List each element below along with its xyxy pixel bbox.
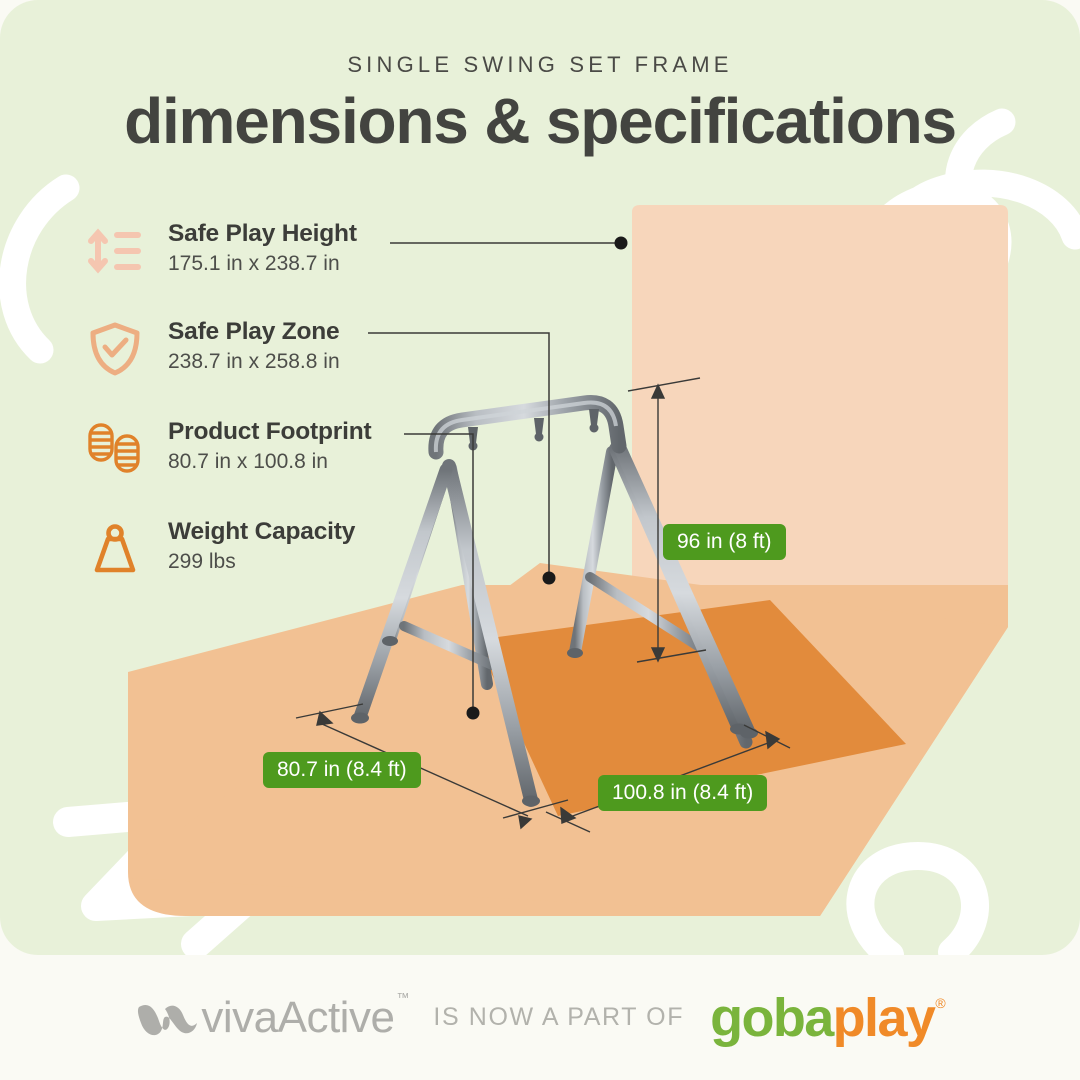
height-arrows-icon bbox=[86, 222, 144, 280]
footprints-icon bbox=[86, 420, 144, 478]
shield-check-icon bbox=[86, 320, 144, 378]
spec-title: Weight Capacity bbox=[168, 518, 355, 546]
spec-title: Safe Play Zone bbox=[168, 318, 340, 346]
main-panel: SINGLE SWING SET FRAME dimensions & spec… bbox=[0, 0, 1080, 955]
vivaactive-mark-icon bbox=[135, 993, 201, 1043]
height-badge: 96 in (8 ft) bbox=[663, 524, 786, 560]
connector-text: IS NOW A PART OF bbox=[433, 1003, 684, 1032]
gobaplay-logo: goba play ® bbox=[710, 987, 945, 1049]
eyebrow-text: SINGLE SWING SET FRAME bbox=[0, 52, 1080, 78]
trademark-symbol: ™ bbox=[396, 990, 409, 1005]
gobaplay-goba: goba bbox=[710, 987, 833, 1049]
spec-value: 175.1 in x 238.7 in bbox=[168, 252, 340, 276]
registered-symbol: ® bbox=[935, 995, 945, 1011]
specifications-list: Safe Play Height 175.1 in x 238.7 in Saf… bbox=[86, 218, 486, 606]
vivaactive-logo: vivaActive ™ bbox=[135, 993, 407, 1043]
decor-ring-bottom-right bbox=[860, 856, 975, 955]
dot-product-footprint bbox=[467, 707, 480, 720]
width-badge: 80.7 in (8.4 ft) bbox=[263, 752, 421, 788]
spec-value: 238.7 in x 258.8 in bbox=[168, 350, 340, 374]
weight-icon bbox=[86, 520, 144, 578]
spec-value: 299 lbs bbox=[168, 550, 236, 574]
decor-arc-left bbox=[13, 188, 66, 350]
spec-title: Safe Play Height bbox=[168, 220, 357, 248]
footer-bar: vivaActive ™ IS NOW A PART OF goba play … bbox=[0, 955, 1080, 1080]
page-title: dimensions & specifications bbox=[0, 84, 1080, 158]
spec-value: 80.7 in x 100.8 in bbox=[168, 450, 328, 474]
spec-row-safe-play-zone: Safe Play Zone 238.7 in x 258.8 in bbox=[86, 316, 486, 406]
vivaactive-wordmark: vivaActive bbox=[201, 993, 394, 1043]
spec-row-weight-capacity: Weight Capacity 299 lbs bbox=[86, 516, 486, 606]
spec-row-product-footprint: Product Footprint 80.7 in x 100.8 in bbox=[86, 416, 486, 506]
depth-badge: 100.8 in (8.4 ft) bbox=[598, 775, 767, 811]
spec-title: Product Footprint bbox=[168, 418, 371, 446]
spec-row-safe-play-height: Safe Play Height 175.1 in x 238.7 in bbox=[86, 218, 486, 308]
dot-safe-play-zone bbox=[543, 572, 556, 585]
dot-safe-play-height bbox=[615, 237, 628, 250]
gobaplay-play: play bbox=[833, 987, 935, 1049]
infographic-canvas: SINGLE SWING SET FRAME dimensions & spec… bbox=[0, 0, 1080, 1080]
